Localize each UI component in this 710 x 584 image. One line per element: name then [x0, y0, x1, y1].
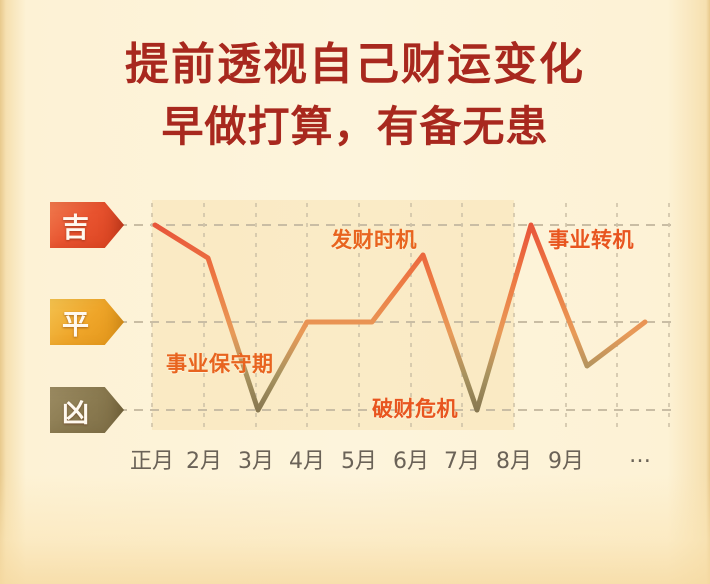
x-label-4: 5月 [341, 443, 377, 475]
title-line-1: 提前透视自己财运变化 [0, 34, 710, 96]
axis-badge-xiong-label: 凶 [62, 391, 90, 430]
axis-badge-ping-label: 平 [62, 303, 90, 342]
page-title: 提前透视自己财运变化 早做打算，有备无患 [0, 34, 710, 158]
x-axis-labels: 正月 2月 3月 4月 5月 6月 7月 8月 9月 … [0, 443, 710, 477]
title-line-2: 早做打算，有备无患 [0, 96, 710, 158]
x-label-1: 2月 [186, 443, 222, 475]
x-label-5: 6月 [393, 443, 429, 475]
x-label-8: 9月 [548, 443, 584, 475]
x-label-2: 3月 [238, 443, 274, 475]
x-label-0: 正月 [130, 443, 174, 475]
poster-root: 提前透视自己财运变化 早做打算，有备无患 [0, 0, 710, 584]
x-label-9: … [629, 443, 651, 468]
x-label-6: 7月 [444, 443, 480, 475]
annotation-career-turnaround: 事业转机 [548, 224, 634, 254]
annotation-money-loss-crisis: 破财危机 [372, 393, 458, 423]
x-label-7: 8月 [496, 443, 532, 475]
axis-badge-ji-label: 吉 [62, 206, 90, 245]
annotation-wealth-opportunity: 发财时机 [331, 224, 417, 254]
x-label-3: 4月 [289, 443, 325, 475]
annotation-career-conservative: 事业保守期 [166, 348, 274, 378]
